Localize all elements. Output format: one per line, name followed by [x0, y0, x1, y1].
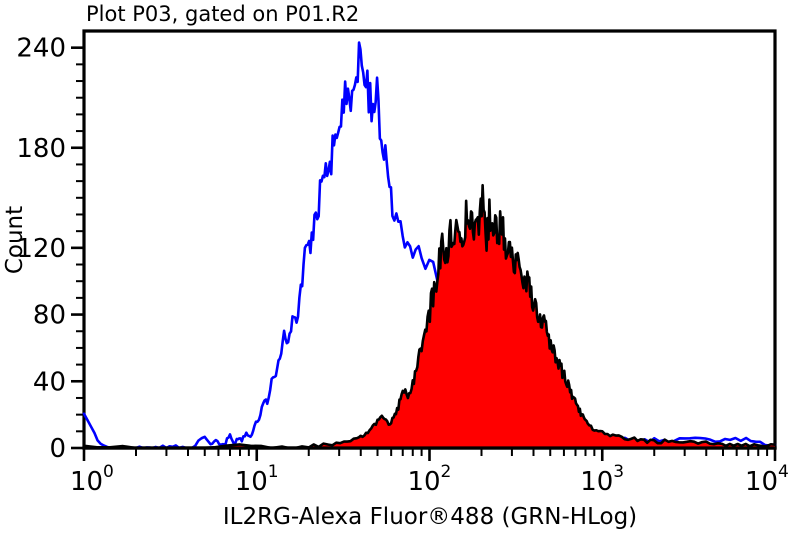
- svg-text:10: 10: [580, 467, 613, 497]
- chart-canvas: Plot P03, gated on P01.R2 04080120180240…: [0, 0, 800, 538]
- y-tick-label: 0: [49, 434, 66, 464]
- y-tick-label: 180: [16, 134, 66, 164]
- x-tick-label: 101: [235, 462, 279, 497]
- chart-title: Plot P03, gated on P01.R2: [86, 2, 359, 26]
- data-series-group: [84, 43, 775, 448]
- svg-text:3: 3: [613, 462, 624, 482]
- svg-text:10: 10: [408, 467, 441, 497]
- x-tick-label: 100: [70, 462, 114, 497]
- x-tick-label: 103: [580, 462, 624, 497]
- x-axis-label: IL2RG-Alexa Fluor®488 (GRN-HLog): [223, 504, 637, 530]
- y-tick-label: 40: [33, 367, 66, 397]
- x-tick-label: 102: [408, 462, 452, 497]
- svg-text:10: 10: [235, 467, 268, 497]
- svg-text:4: 4: [778, 462, 789, 482]
- y-axis-label: Count: [2, 206, 28, 274]
- svg-text:10: 10: [745, 467, 778, 497]
- flow-cytometry-histogram-figure: Plot P03, gated on P01.R2 04080120180240…: [0, 0, 800, 538]
- y-tick-label: 80: [33, 301, 66, 331]
- x-axis: 100101102103104: [70, 448, 789, 497]
- series-sample-stained: [84, 185, 775, 448]
- svg-text:10: 10: [70, 467, 103, 497]
- svg-text:2: 2: [441, 462, 452, 482]
- svg-text:0: 0: [103, 462, 114, 482]
- x-tick-label: 104: [745, 462, 789, 497]
- svg-text:1: 1: [268, 462, 279, 482]
- y-tick-label: 240: [16, 34, 66, 64]
